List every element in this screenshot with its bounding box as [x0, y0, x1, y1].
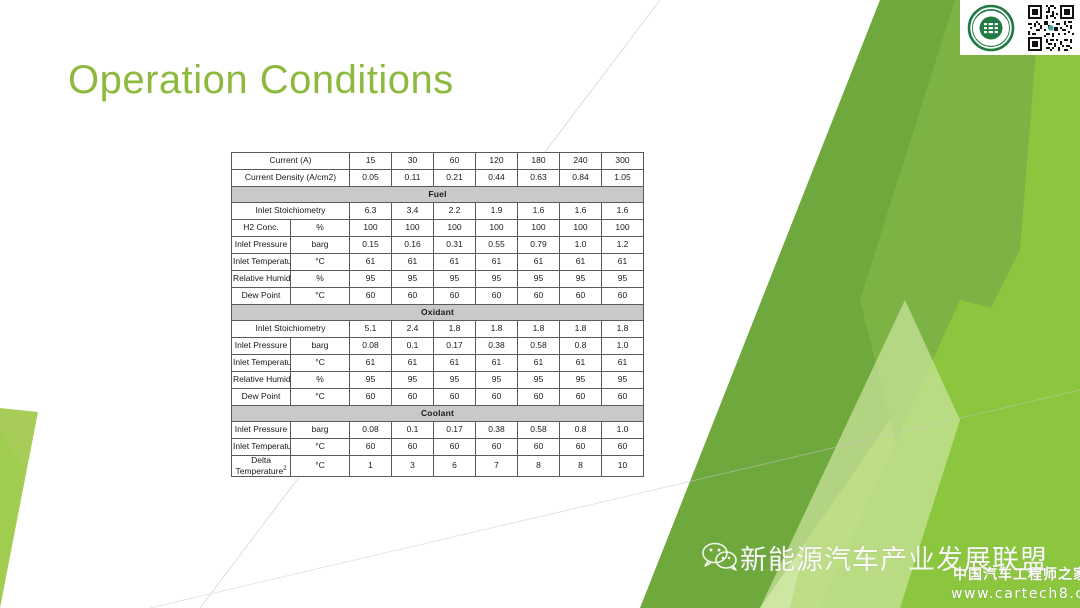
table-section-header: Coolant [232, 406, 644, 422]
table-cell: 0.55 [476, 237, 518, 254]
table-cell: 100 [560, 220, 602, 237]
table-row: Inlet Pressurebarg0.150.160.310.550.791.… [232, 237, 644, 254]
row-label: Dew Point [232, 288, 291, 305]
table-cell: 60 [602, 288, 644, 305]
table-cell: 95 [434, 271, 476, 288]
table-row: Dew Point°C60606060606060 [232, 288, 644, 305]
table-cell: 0.63 [518, 170, 560, 187]
bg-shape-pale-right [705, 0, 1080, 608]
row-unit: °C [291, 389, 350, 406]
table-row: Inlet Temperature°C60606060606060 [232, 439, 644, 456]
table-cell: 0.84 [560, 170, 602, 187]
table-cell: 1.6 [602, 203, 644, 220]
table-cell: 1.6 [560, 203, 602, 220]
bg-shape-mint-right [660, 0, 1080, 608]
section-label: Coolant [232, 406, 644, 422]
table-section-header: Oxidant [232, 305, 644, 321]
bg-shape-brightgreen-right [790, 0, 1080, 608]
table-cell: 1.8 [560, 321, 602, 338]
row-label: Current Density (A/cm2) [232, 170, 350, 187]
table-row: Current Density (A/cm2)0.050.110.210.440… [232, 170, 644, 187]
table-row: Inlet Stoichiometry5.12.41.81.81.81.81.8 [232, 321, 644, 338]
table-row: Inlet Temperature°C61616161616161 [232, 254, 644, 271]
row-label: Inlet Temperature [232, 439, 291, 456]
table-cell: 0.21 [434, 170, 476, 187]
row-unit: % [291, 271, 350, 288]
table-cell: 95 [560, 372, 602, 389]
table-cell: 60 [476, 288, 518, 305]
table-cell: 0.38 [476, 338, 518, 355]
table-cell: 100 [434, 220, 476, 237]
table-cell: 60 [518, 439, 560, 456]
table-cell: 60 [350, 439, 392, 456]
table-cell: 30 [392, 153, 434, 170]
table-cell: 2.4 [392, 321, 434, 338]
table-cell: 1.9 [476, 203, 518, 220]
table-cell: 61 [434, 254, 476, 271]
table-cell: 61 [560, 355, 602, 372]
table-row: Relative Humidity%95959595959595 [232, 372, 644, 389]
table-cell: 61 [350, 355, 392, 372]
qr-code-icon [1026, 3, 1076, 53]
table-cell: 61 [602, 254, 644, 271]
table-cell: 0.16 [392, 237, 434, 254]
table-cell: 0.08 [350, 422, 392, 439]
table-cell: 7 [476, 456, 518, 477]
row-unit: °C [291, 456, 350, 477]
table-cell: 60 [392, 288, 434, 305]
bg-shape-deepgreen-wedge [640, 0, 1010, 608]
table-cell: 5.1 [350, 321, 392, 338]
qr-code [1022, 0, 1080, 55]
section-label: Fuel [232, 187, 644, 203]
table-cell: 60 [560, 288, 602, 305]
table-cell: 0.08 [350, 338, 392, 355]
row-label: Relative Humidity [232, 271, 291, 288]
table-cell: 95 [602, 372, 644, 389]
row-unit: °C [291, 254, 350, 271]
row-unit: barg [291, 422, 350, 439]
row-label: Inlet Stoichiometry [232, 321, 350, 338]
table-cell: 100 [350, 220, 392, 237]
table-cell: 60 [350, 389, 392, 406]
table-cell: 95 [476, 271, 518, 288]
table-cell: 60 [392, 389, 434, 406]
table-cell: 61 [518, 254, 560, 271]
operation-conditions-table: Current (A)153060120180240300Current Den… [231, 152, 644, 477]
watermark-main-text: 新能源汽车产业发展联盟 [740, 538, 1048, 577]
table-cell: 60 [476, 439, 518, 456]
table-cell: 95 [476, 372, 518, 389]
watermark: 新能源汽车产业发展联盟 中国汽车工程师之家 www.cartech8.com [700, 534, 1080, 608]
row-unit: °C [291, 355, 350, 372]
page-title: Operation Conditions [68, 58, 454, 103]
bg-shape-left-wedge-inner [0, 430, 24, 608]
table-cell: 100 [476, 220, 518, 237]
bg-shape-midgreen-right [905, 0, 1080, 608]
table-cell: 100 [602, 220, 644, 237]
table-cell: 61 [476, 254, 518, 271]
table-cell: 6 [434, 456, 476, 477]
row-label: Inlet Temperature [232, 355, 291, 372]
row-unit: barg [291, 237, 350, 254]
table-cell: 60 [518, 389, 560, 406]
table-row: Inlet Pressurebarg0.080.10.170.380.580.8… [232, 422, 644, 439]
table-cell: 61 [350, 254, 392, 271]
row-label: Current (A) [232, 153, 350, 170]
table-cell: 1.0 [602, 338, 644, 355]
table-cell: 1.0 [560, 237, 602, 254]
row-label: Relative Humidity [232, 372, 291, 389]
section-label: Oxidant [232, 305, 644, 321]
table-cell: 60 [560, 439, 602, 456]
table-cell: 1.8 [602, 321, 644, 338]
bg-shape-lightgreen-bottom [820, 300, 1080, 608]
table-row: Current (A)153060120180240300 [232, 153, 644, 170]
table-cell: 0.11 [392, 170, 434, 187]
table-cell: 60 [602, 439, 644, 456]
row-unit: °C [291, 439, 350, 456]
table-cell: 1.8 [518, 321, 560, 338]
row-label: Inlet Stoichiometry [232, 203, 350, 220]
table-cell: 61 [560, 254, 602, 271]
table-cell: 95 [434, 372, 476, 389]
table-cell: 95 [560, 271, 602, 288]
table-cell: 60 [392, 439, 434, 456]
watermark-sub-text: 中国汽车工程师之家 [953, 564, 1080, 584]
row-label: Dew Point [232, 389, 291, 406]
table-cell: 0.15 [350, 237, 392, 254]
badge-bar [960, 0, 1080, 55]
association-logo [960, 0, 1022, 55]
watermark-url: www.cartech8.com [951, 586, 1080, 602]
row-label: Inlet Pressure [232, 338, 291, 355]
table-cell: 100 [392, 220, 434, 237]
row-label: H2 Conc. [232, 220, 291, 237]
table-cell: 61 [392, 355, 434, 372]
row-label: Inlet Pressure [232, 422, 291, 439]
table-cell: 1.8 [434, 321, 476, 338]
row-label: Inlet Pressure [232, 237, 291, 254]
table-cell: 95 [518, 271, 560, 288]
table-cell: 240 [560, 153, 602, 170]
table-cell: 3.4 [392, 203, 434, 220]
table-cell: 0.58 [518, 338, 560, 355]
table-cell: 0.17 [434, 422, 476, 439]
table-row: Inlet Pressurebarg0.080.10.170.380.580.8… [232, 338, 644, 355]
table-cell: 95 [350, 271, 392, 288]
table-cell: 60 [434, 389, 476, 406]
table-cell: 120 [476, 153, 518, 170]
table-cell: 10 [602, 456, 644, 477]
row-unit: % [291, 220, 350, 237]
table-cell: 60 [434, 288, 476, 305]
table-cell: 1 [350, 456, 392, 477]
wechat-icon [700, 540, 740, 572]
table-cell: 0.8 [560, 338, 602, 355]
row-unit: barg [291, 338, 350, 355]
table-cell: 60 [434, 439, 476, 456]
table-cell: 60 [476, 389, 518, 406]
table-cell: 60 [602, 389, 644, 406]
table-cell: 95 [392, 372, 434, 389]
table-cell: 60 [518, 288, 560, 305]
table-cell: 95 [392, 271, 434, 288]
table-cell: 61 [392, 254, 434, 271]
table-cell: 0.8 [560, 422, 602, 439]
table-cell: 60 [560, 389, 602, 406]
presentation-slide: Operation Conditions [0, 0, 1080, 608]
row-label: DeltaTemperature2 [232, 456, 291, 477]
bg-shape-left-wedge [0, 408, 38, 608]
table-cell: 1.0 [602, 422, 644, 439]
row-unit: % [291, 372, 350, 389]
table-cell: 0.31 [434, 237, 476, 254]
table-row: Relative Humidity%95959595959595 [232, 271, 644, 288]
table-cell: 61 [434, 355, 476, 372]
table-cell: 0.05 [350, 170, 392, 187]
table-cell: 300 [602, 153, 644, 170]
table-row: Inlet Stoichiometry6.33.42.21.91.61.61.6 [232, 203, 644, 220]
table-row: H2 Conc.%100100100100100100100 [232, 220, 644, 237]
table-cell: 0.1 [392, 422, 434, 439]
table-cell: 61 [518, 355, 560, 372]
table-cell: 180 [518, 153, 560, 170]
table-cell: 95 [602, 271, 644, 288]
bg-shape-deepgreen-wedge-2 [860, 0, 1040, 480]
table-cell: 1.8 [476, 321, 518, 338]
row-unit: °C [291, 288, 350, 305]
table-cell: 0.38 [476, 422, 518, 439]
operation-conditions-table-wrapper: Current (A)153060120180240300Current Den… [231, 152, 641, 477]
table-cell: 8 [518, 456, 560, 477]
table-cell: 100 [518, 220, 560, 237]
table-cell: 8 [560, 456, 602, 477]
circular-green-logo-icon [964, 3, 1018, 53]
table-cell: 60 [350, 288, 392, 305]
table-cell: 3 [392, 456, 434, 477]
table-cell: 0.44 [476, 170, 518, 187]
table-cell: 1.2 [602, 237, 644, 254]
table-cell: 0.17 [434, 338, 476, 355]
table-cell: 95 [518, 372, 560, 389]
table-row: DeltaTemperature2°C13678810 [232, 456, 644, 477]
table-cell: 95 [350, 372, 392, 389]
table-cell: 0.58 [518, 422, 560, 439]
table-cell: 0.79 [518, 237, 560, 254]
table-cell: 0.1 [392, 338, 434, 355]
table-row: Inlet Temperature°C61616161616161 [232, 355, 644, 372]
table-cell: 6.3 [350, 203, 392, 220]
table-section-header: Fuel [232, 187, 644, 203]
table-cell: 1.6 [518, 203, 560, 220]
table-cell: 15 [350, 153, 392, 170]
bg-shape-pale-bottom [760, 300, 960, 608]
table-cell: 61 [476, 355, 518, 372]
table-row: Dew Point°C60606060606060 [232, 389, 644, 406]
table-cell: 60 [434, 153, 476, 170]
table-cell: 2.2 [434, 203, 476, 220]
table-cell: 61 [602, 355, 644, 372]
row-label: Inlet Temperature [232, 254, 291, 271]
table-cell: 1.05 [602, 170, 644, 187]
